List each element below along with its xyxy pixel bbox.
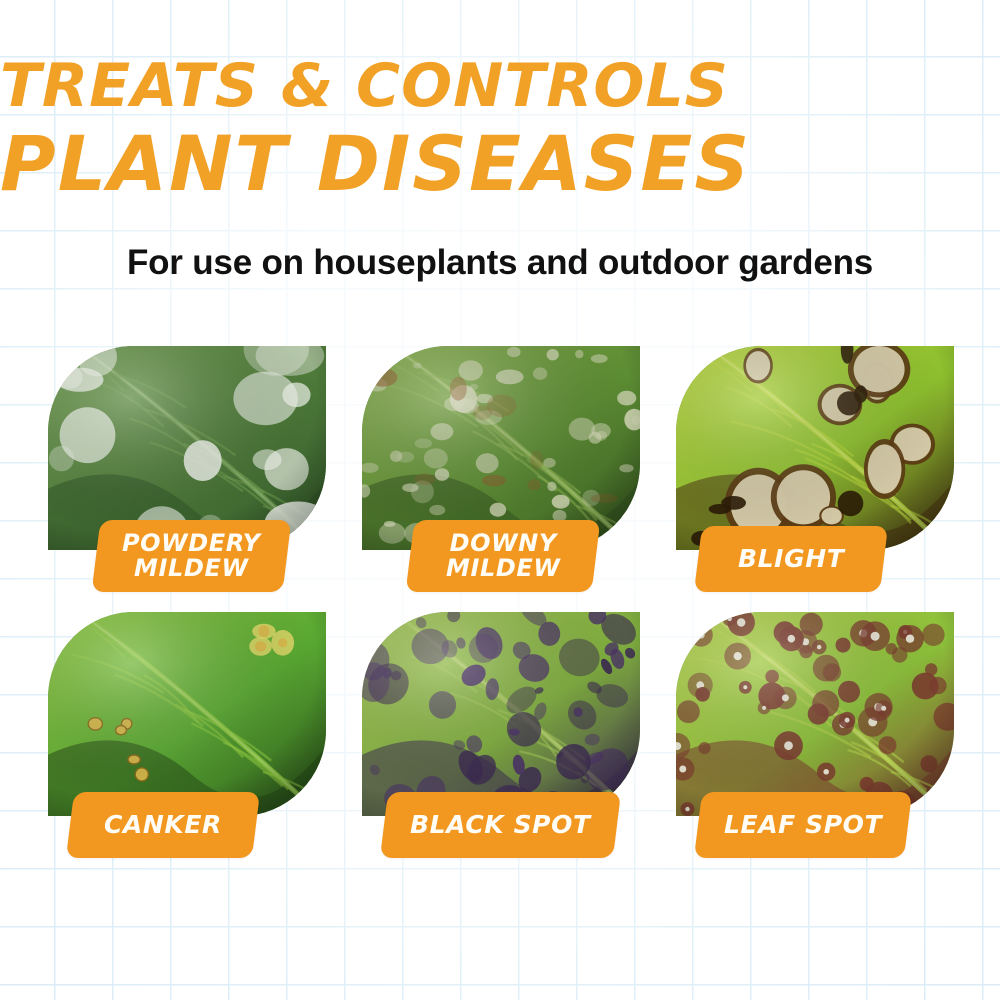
disease-label-text: BLACK SPOT: [384, 812, 617, 838]
disease-photo-leaf-spot: [676, 612, 954, 816]
disease-label-tag-powdery-mildew: POWDERY MILDEW: [92, 520, 291, 592]
disease-label-text: DOWNY MILDEW: [420, 531, 587, 581]
disease-label-tag-leaf-spot: LEAF SPOT: [694, 792, 912, 858]
disease-photo-canker: [48, 612, 326, 816]
disease-label-text: POWDERY MILDEW: [96, 531, 287, 581]
disease-label-text: BLIGHT: [712, 546, 870, 572]
disease-label-text: LEAF SPOT: [698, 812, 908, 838]
disease-card-blight[interactable]: BLIGHT: [676, 346, 954, 592]
disease-card-downy-mildew[interactable]: DOWNY MILDEW: [362, 346, 640, 592]
disease-card-canker[interactable]: CANKER: [48, 612, 326, 858]
headline-line-1: TREATS & CONTROLS: [0, 58, 1000, 115]
headline-line-2: PLANT DISEASES: [0, 128, 1000, 200]
disease-photo-black-spot: [362, 612, 640, 816]
disease-label-text: CANKER: [78, 812, 248, 838]
disease-card-black-spot[interactable]: BLACK SPOT: [362, 612, 640, 858]
disease-card-grid: POWDERY MILDEW DOWNY MILDEW BLIGHT: [48, 346, 954, 858]
subtitle: For use on houseplants and outdoor garde…: [0, 243, 1000, 283]
disease-label-tag-canker: CANKER: [66, 792, 260, 858]
disease-label-tag-black-spot: BLACK SPOT: [380, 792, 621, 858]
disease-card-powdery-mildew[interactable]: POWDERY MILDEW: [48, 346, 326, 592]
infographic-page: TREATS & CONTROLS PLANT DISEASES For use…: [0, 0, 1000, 1000]
disease-photo-blight: [676, 346, 954, 550]
disease-label-tag-downy-mildew: DOWNY MILDEW: [406, 520, 601, 592]
disease-label-tag-blight: BLIGHT: [694, 526, 888, 592]
disease-card-leaf-spot[interactable]: LEAF SPOT: [676, 612, 954, 858]
